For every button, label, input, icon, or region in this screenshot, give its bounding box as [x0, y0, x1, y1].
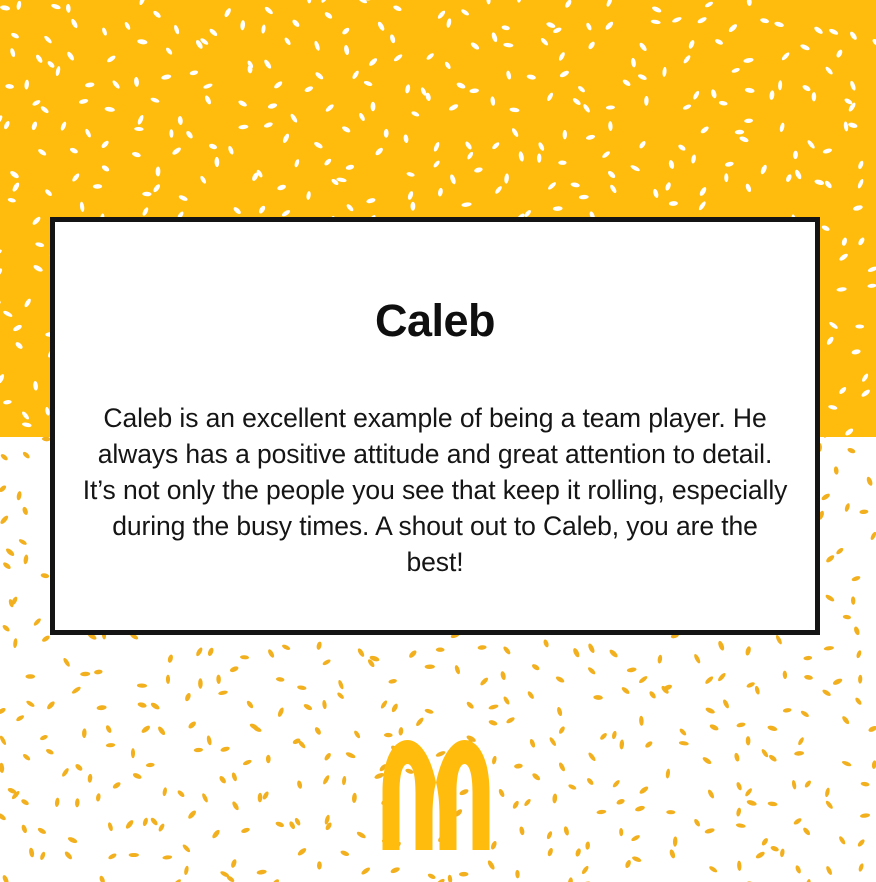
recognition-quote-card: Caleb Caleb is an excellent example of b… — [50, 217, 820, 635]
mcdonalds-golden-arches-logo — [374, 738, 498, 852]
arches-path — [383, 740, 437, 850]
page-title: Caleb — [55, 298, 815, 343]
recognition-card-poster: Caleb Caleb is an excellent example of b… — [0, 0, 876, 882]
recognition-message-text: Caleb is an excellent example of being a… — [81, 400, 789, 580]
arches-path-mirror — [436, 740, 490, 850]
